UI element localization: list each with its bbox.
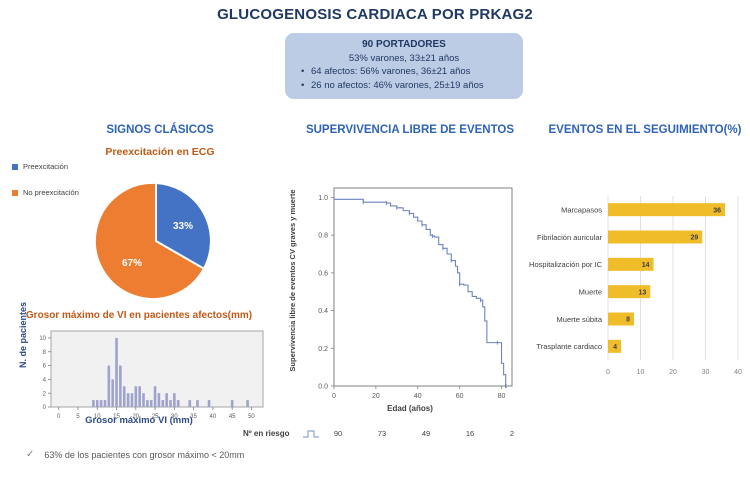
bar-value-label: 8 <box>626 317 630 324</box>
bar-x-axis-ticks: 010203040 <box>606 369 742 376</box>
summary-bullet: 26 no afectos: 46% varones, 25±19 años <box>311 79 515 93</box>
pie-chart-preexcitacion: 33% 67% <box>93 178 219 304</box>
histogram-bar <box>115 338 118 407</box>
km-plot-area <box>334 188 512 386</box>
bar-x-tick-label: 30 <box>702 369 710 376</box>
pie-label-preexcitacion: 33% <box>173 221 193 232</box>
bar-value-label: 29 <box>690 235 698 242</box>
bar-gridlines <box>608 196 738 360</box>
risk-value: 2 <box>501 429 523 438</box>
km-x-tick-label: 20 <box>372 393 380 400</box>
histogram-bar <box>165 393 168 407</box>
histogram-bar <box>196 400 199 407</box>
km-x-ticks: 020406080 <box>332 386 505 400</box>
km-x-tick-label: 60 <box>456 393 464 400</box>
risk-value: 73 <box>371 429 393 438</box>
pie-svg: 33% 67% <box>93 178 219 304</box>
histogram-bar <box>158 393 161 407</box>
km-y-tick-label: 0.4 <box>318 308 328 315</box>
km-svg: 0.00.20.40.60.81.0 020406080 <box>300 182 520 414</box>
legend-swatch-icon <box>12 190 18 196</box>
histogram-y-tick-label: 6 <box>43 364 47 370</box>
km-survival-chart: 0.00.20.40.60.81.0 020406080 <box>300 182 520 414</box>
pie-label-no-preexcitacion: 67% <box>122 258 142 269</box>
histogram-y-tick-label: 8 <box>43 350 47 356</box>
histogram-bar <box>246 400 249 407</box>
histogram-bar <box>177 400 180 407</box>
check-icon: ✓ <box>26 449 34 460</box>
section-subheader-preexcitacion: Preexcitación en ECG <box>70 146 250 158</box>
risk-value: 90 <box>327 429 349 438</box>
histogram-bar <box>131 393 134 407</box>
legend-label: No preexcitación <box>23 188 79 197</box>
check-note: ✓ 63% de los pacientes con grosor máximo… <box>26 449 244 460</box>
histogram-bar <box>92 400 95 407</box>
risk-value: 49 <box>415 429 437 438</box>
histogram-bar <box>154 386 157 407</box>
histogram-y-ticks: 0246810 <box>39 336 51 411</box>
histogram-bar <box>135 386 138 407</box>
km-y-ticks: 0.00.20.40.60.81.0 <box>318 195 334 391</box>
legend-item-preexcitacion: Preexcitación <box>12 162 112 171</box>
histogram-plot-area <box>51 331 263 407</box>
summary-bullet-list: 64 afectos: 56% varones, 36±21 años 26 n… <box>293 65 515 92</box>
histogram-bar <box>161 400 164 407</box>
bar-category-labels: MarcapasosFibrilación auricularHospitali… <box>529 205 603 351</box>
bar-category-label: Muerte <box>579 287 602 296</box>
km-y-tick-label: 1.0 <box>318 195 328 202</box>
km-y-tick-label: 0.2 <box>318 346 328 353</box>
histogram-y-tick-label: 2 <box>43 391 47 397</box>
histogram-x-axis-label: Grosor máximo VI (mm) <box>8 415 270 426</box>
bar-category-label: Hospitalización por IC <box>529 260 603 269</box>
bar-x-tick-label: 20 <box>669 369 677 376</box>
histogram-bar <box>100 400 103 407</box>
bar-category-label: Trasplante cardiaco <box>536 342 602 351</box>
events-bar-svg: 3629141384 MarcapasosFibrilación auricul… <box>520 190 748 390</box>
histogram-bar <box>169 400 172 407</box>
km-y-axis-label: Supervivencia libre de eventos CV graves… <box>288 188 297 373</box>
summary-bullet: 64 afectos: 56% varones, 36±21 años <box>311 65 515 79</box>
histogram-bar <box>123 386 126 407</box>
bar-x-tick-label: 40 <box>734 369 742 376</box>
bar-category-label: Muerte súbita <box>557 315 603 324</box>
km-y-tick-label: 0.0 <box>318 384 328 391</box>
bar-category-label: Fibrilación auricular <box>537 233 603 242</box>
step-line-icon <box>303 430 319 438</box>
km-y-tick-label: 0.6 <box>318 270 328 277</box>
histogram-bar <box>104 400 107 407</box>
section-header-eventos: EVENTOS EN EL SEGUIMIENTO(%) <box>540 124 750 136</box>
histogram-bar <box>208 400 211 407</box>
histogram-bar <box>111 379 114 407</box>
histogram-bar <box>150 400 153 407</box>
histogram-bar <box>142 393 145 407</box>
page-title: GLUCOGENOSIS CARDIACA POR PRKAG2 <box>0 6 750 23</box>
legend-label: Preexcitación <box>23 162 68 171</box>
bar-rect <box>608 203 725 216</box>
bar-value-label: 36 <box>713 207 721 214</box>
histogram-bar <box>127 393 130 407</box>
histogram-bar <box>108 366 111 407</box>
legend-swatch-icon <box>12 164 18 170</box>
histogram-bar <box>173 393 176 407</box>
histogram-bar <box>96 400 99 407</box>
bar-rect <box>608 313 634 326</box>
bar-category-label: Marcapasos <box>561 205 602 214</box>
events-bar-chart: 3629141384 MarcapasosFibrilación auricul… <box>520 190 748 390</box>
histogram-y-tick-label: 10 <box>39 336 46 342</box>
bar-value-label: 4 <box>613 344 617 351</box>
check-note-text: 63% de los pacientes con grosor máximo <… <box>44 450 244 460</box>
km-x-tick-label: 80 <box>498 393 506 400</box>
histogram-bar <box>188 400 191 407</box>
km-x-tick-label: 0 <box>332 393 336 400</box>
km-x-axis-label: Edad (años) <box>300 404 520 413</box>
histogram-bar <box>146 400 149 407</box>
histogram-y-tick-label: 4 <box>43 378 47 384</box>
risk-value: 16 <box>459 429 481 438</box>
bar-value-label: 14 <box>642 262 650 269</box>
histogram-bar <box>231 400 234 407</box>
km-x-tick-label: 40 <box>414 393 422 400</box>
bar-rect <box>608 231 702 244</box>
risk-table: Nº en riesgo 90 73 49 16 2 <box>243 427 533 443</box>
summary-heading: 90 PORTADORES <box>293 38 515 52</box>
histogram-y-tick-label: 0 <box>43 405 47 411</box>
histogram-bar <box>119 366 122 407</box>
histogram-bar <box>138 386 141 407</box>
bar-value-label: 13 <box>638 289 646 296</box>
summary-box: 90 PORTADORES 53% varones, 33±21 años 64… <box>285 33 523 99</box>
histogram-title: Grosor máximo de VI en pacientes afectos… <box>8 310 270 321</box>
section-header-signos-clasicos: SIGNOS CLÁSICOS <box>70 124 250 136</box>
bar-x-tick-label: 10 <box>637 369 645 376</box>
summary-subheading: 53% varones, 33±21 años <box>293 52 515 66</box>
bar-x-tick-label: 0 <box>606 369 610 376</box>
section-header-supervivencia: SUPERVIVENCIA LIBRE DE EVENTOS <box>290 124 530 136</box>
bar-series: 3629141384 <box>608 203 725 353</box>
km-y-tick-label: 0.8 <box>318 233 328 240</box>
risk-table-label: Nº en riesgo <box>243 429 290 438</box>
